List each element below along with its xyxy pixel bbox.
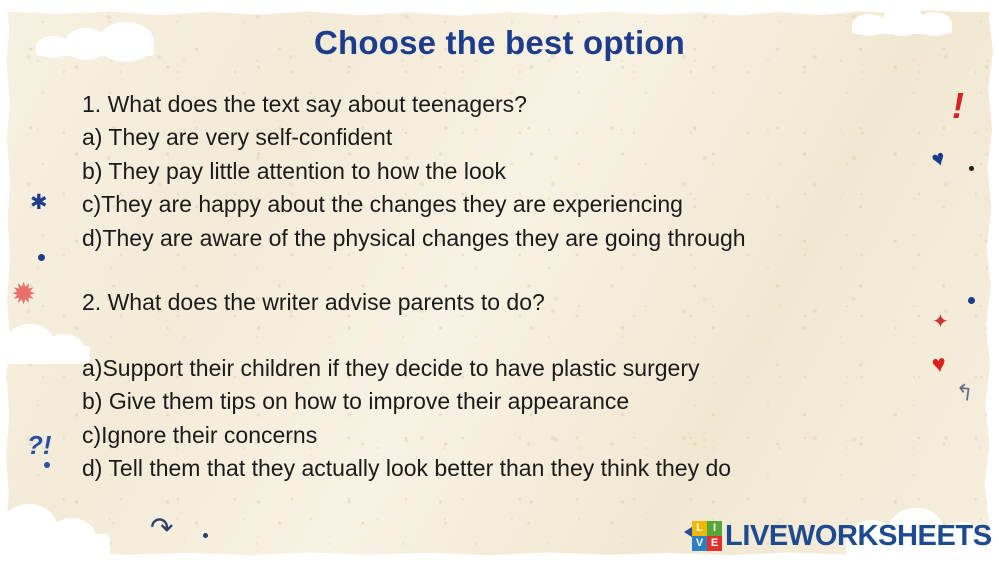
question-1-option-c[interactable]: c)They are happy about the changes they … bbox=[82, 188, 746, 221]
question-1-option-d[interactable]: d)They are aware of the physical changes… bbox=[82, 222, 746, 255]
liveworksheets-logo[interactable]: L I V E LIVEWORKSHEETS bbox=[684, 518, 992, 554]
question-2-options: a)Support their children if they decide … bbox=[82, 352, 731, 486]
question-2-option-d[interactable]: d) Tell them that they actually look bet… bbox=[82, 452, 731, 485]
question-2-option-b[interactable]: b) Give them tips on how to improve thei… bbox=[82, 385, 731, 418]
question-2-block: 2. What does the writer advise parents t… bbox=[82, 286, 545, 319]
question-1-prompt: 1. What does the text say about teenager… bbox=[82, 88, 746, 121]
tile-v: V bbox=[692, 536, 707, 551]
tile-i: I bbox=[707, 521, 722, 536]
question-2-prompt: 2. What does the writer advise parents t… bbox=[82, 286, 545, 319]
question-1-option-b[interactable]: b) They pay little attention to how the … bbox=[82, 155, 746, 188]
tile-l: L bbox=[692, 521, 707, 536]
worksheet-slide: Choose the best option 1. What does the … bbox=[0, 0, 999, 562]
letter-tiles: L I V E bbox=[692, 521, 722, 551]
page-title: Choose the best option bbox=[0, 24, 999, 62]
liveworksheets-mark-icon: L I V E bbox=[684, 519, 724, 553]
tile-e: E bbox=[707, 536, 722, 551]
question-1-option-a[interactable]: a) They are very self-confident bbox=[82, 121, 746, 154]
liveworksheets-wordmark: LIVEWORKSHEETS bbox=[725, 522, 992, 551]
question-2-option-c[interactable]: c)Ignore their concerns bbox=[82, 419, 731, 452]
question-1-block: 1. What does the text say about teenager… bbox=[82, 88, 746, 255]
question-2-option-a[interactable]: a)Support their children if they decide … bbox=[82, 352, 731, 385]
